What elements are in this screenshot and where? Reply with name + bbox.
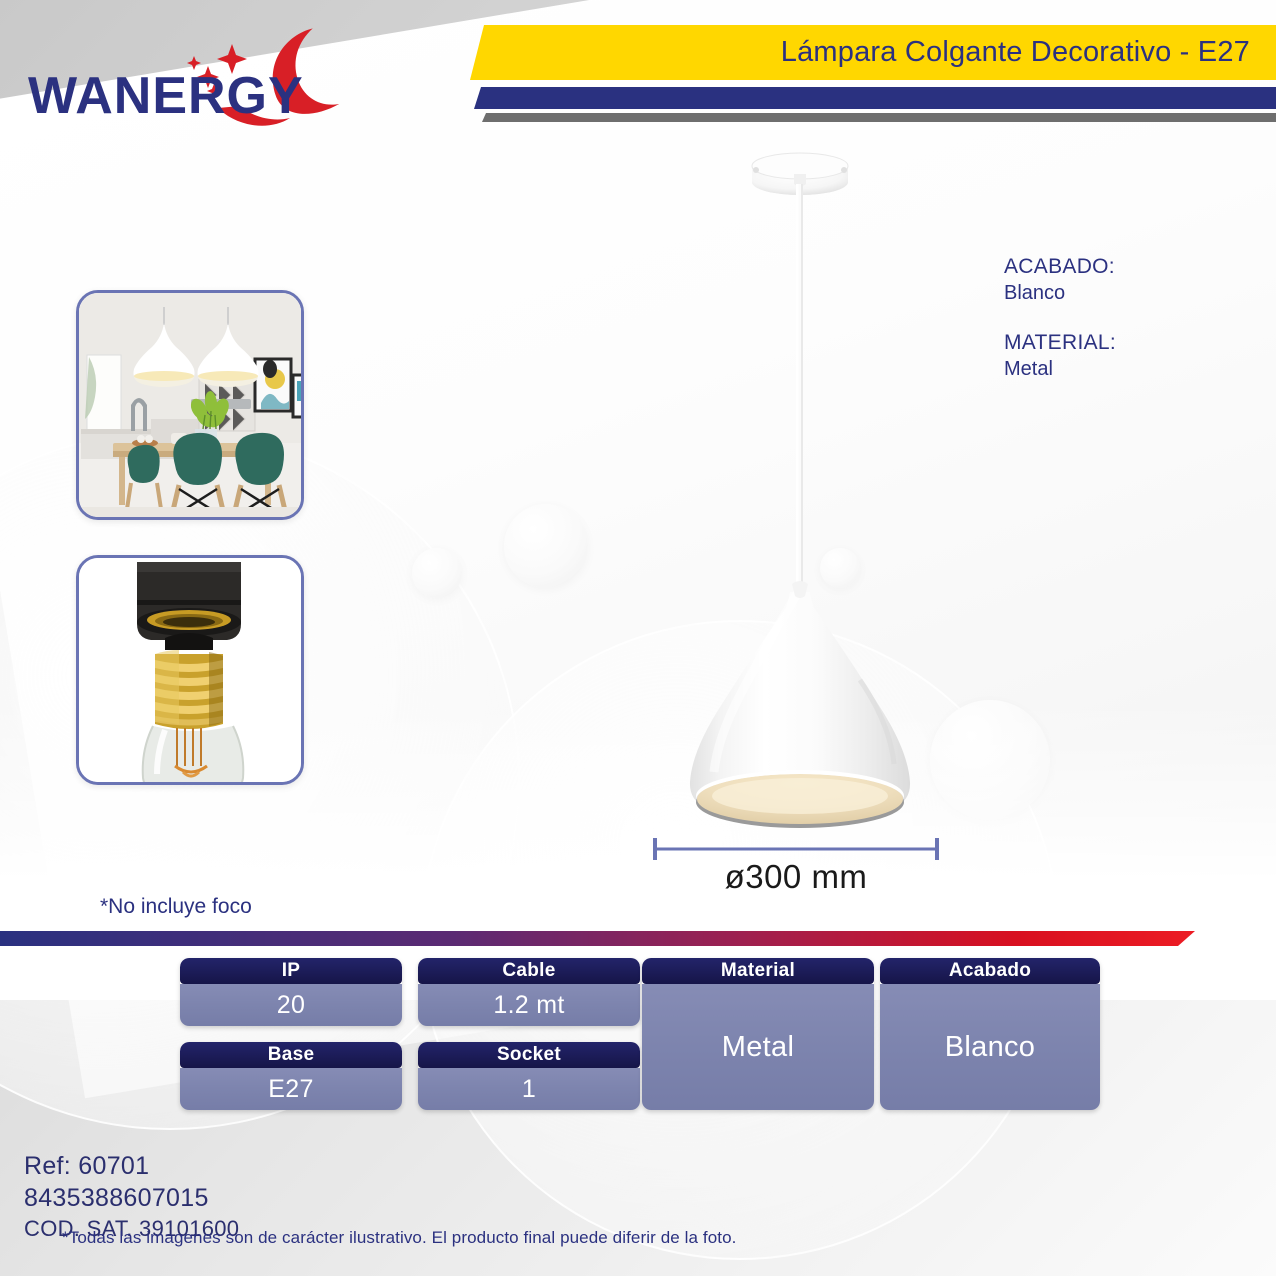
e27-brass-base (155, 650, 223, 729)
side-spec-value-material: Metal (1004, 356, 1116, 383)
side-spec-value-acabado: Blanco (1004, 280, 1116, 307)
side-spec-label-material: MATERIAL: (1004, 329, 1116, 356)
brand-logo: WANERGY (28, 22, 448, 122)
side-specs: ACABADO: Blanco MATERIAL: Metal (1004, 253, 1116, 383)
title-banner-gray-stripe (482, 113, 1276, 122)
spec-card-ip: IP 20 (180, 958, 402, 1026)
e27-socket-illustration (79, 558, 304, 785)
spec-card-title: Base (180, 1042, 402, 1068)
dimension-line (652, 838, 940, 860)
lamp-shade (690, 592, 910, 828)
spec-card-value: Metal (642, 984, 874, 1110)
black-lampholder (137, 562, 241, 650)
pendant-lamp-illustration (620, 140, 980, 840)
background-circle-2 (412, 548, 462, 598)
spec-card-value: 1.2 mt (418, 984, 640, 1026)
spec-card-material: Material Metal (642, 958, 874, 1110)
title-banner-navy-stripe (474, 87, 1276, 109)
spec-card-value: 20 (180, 984, 402, 1026)
reference-code: Ref: 60701 (24, 1150, 239, 1183)
spec-card-value: E27 (180, 1068, 402, 1110)
e27-socket-thumbnail[interactable] (76, 555, 304, 785)
ean-code: 8435388607015 (24, 1183, 239, 1214)
spec-cards: IP 20 Cable 1.2 mt Base E27 Socket 1 Mat… (180, 958, 1100, 1116)
spec-card-title: Cable (418, 958, 640, 984)
kitchen-scene-thumbnail[interactable] (76, 290, 304, 520)
spec-card-cable: Cable 1.2 mt (418, 958, 640, 1026)
spec-card-acabado: Acabado Blanco (880, 958, 1100, 1110)
disclaimer-text: *Todas las imagenes son de carácter ilus… (62, 1228, 736, 1248)
background-circle-1 (504, 504, 588, 588)
page-title: Lámpara Colgante Decorativo - E27 (781, 36, 1250, 69)
spec-card-socket: Socket 1 (418, 1042, 640, 1110)
spec-card-title: Socket (418, 1042, 640, 1068)
footer: Ref: 60701 8435388607015 COD. SAT. 39101… (0, 1140, 1276, 1276)
spec-card-title: IP (180, 958, 402, 984)
brand-name: WANERGY (28, 66, 304, 126)
header: WANERGY Lámpara Colgante Decorativo - E2… (0, 0, 1276, 130)
spec-card-base: Base E27 (180, 1042, 402, 1110)
spec-card-title: Acabado (880, 958, 1100, 984)
kitchen-scene-illustration (79, 293, 304, 520)
spec-card-value: Blanco (880, 984, 1100, 1110)
no-bulb-note: *No incluye foco (100, 895, 252, 919)
product-datasheet: WANERGY Lámpara Colgante Decorativo - E2… (0, 0, 1276, 1276)
section-divider (0, 931, 1195, 946)
dimension-label: ø300 mm (652, 858, 940, 896)
spec-card-title: Material (642, 958, 874, 984)
side-spec-label-acabado: ACABADO: (1004, 253, 1116, 280)
product-main-image (620, 140, 980, 840)
spec-card-value: 1 (418, 1068, 640, 1110)
